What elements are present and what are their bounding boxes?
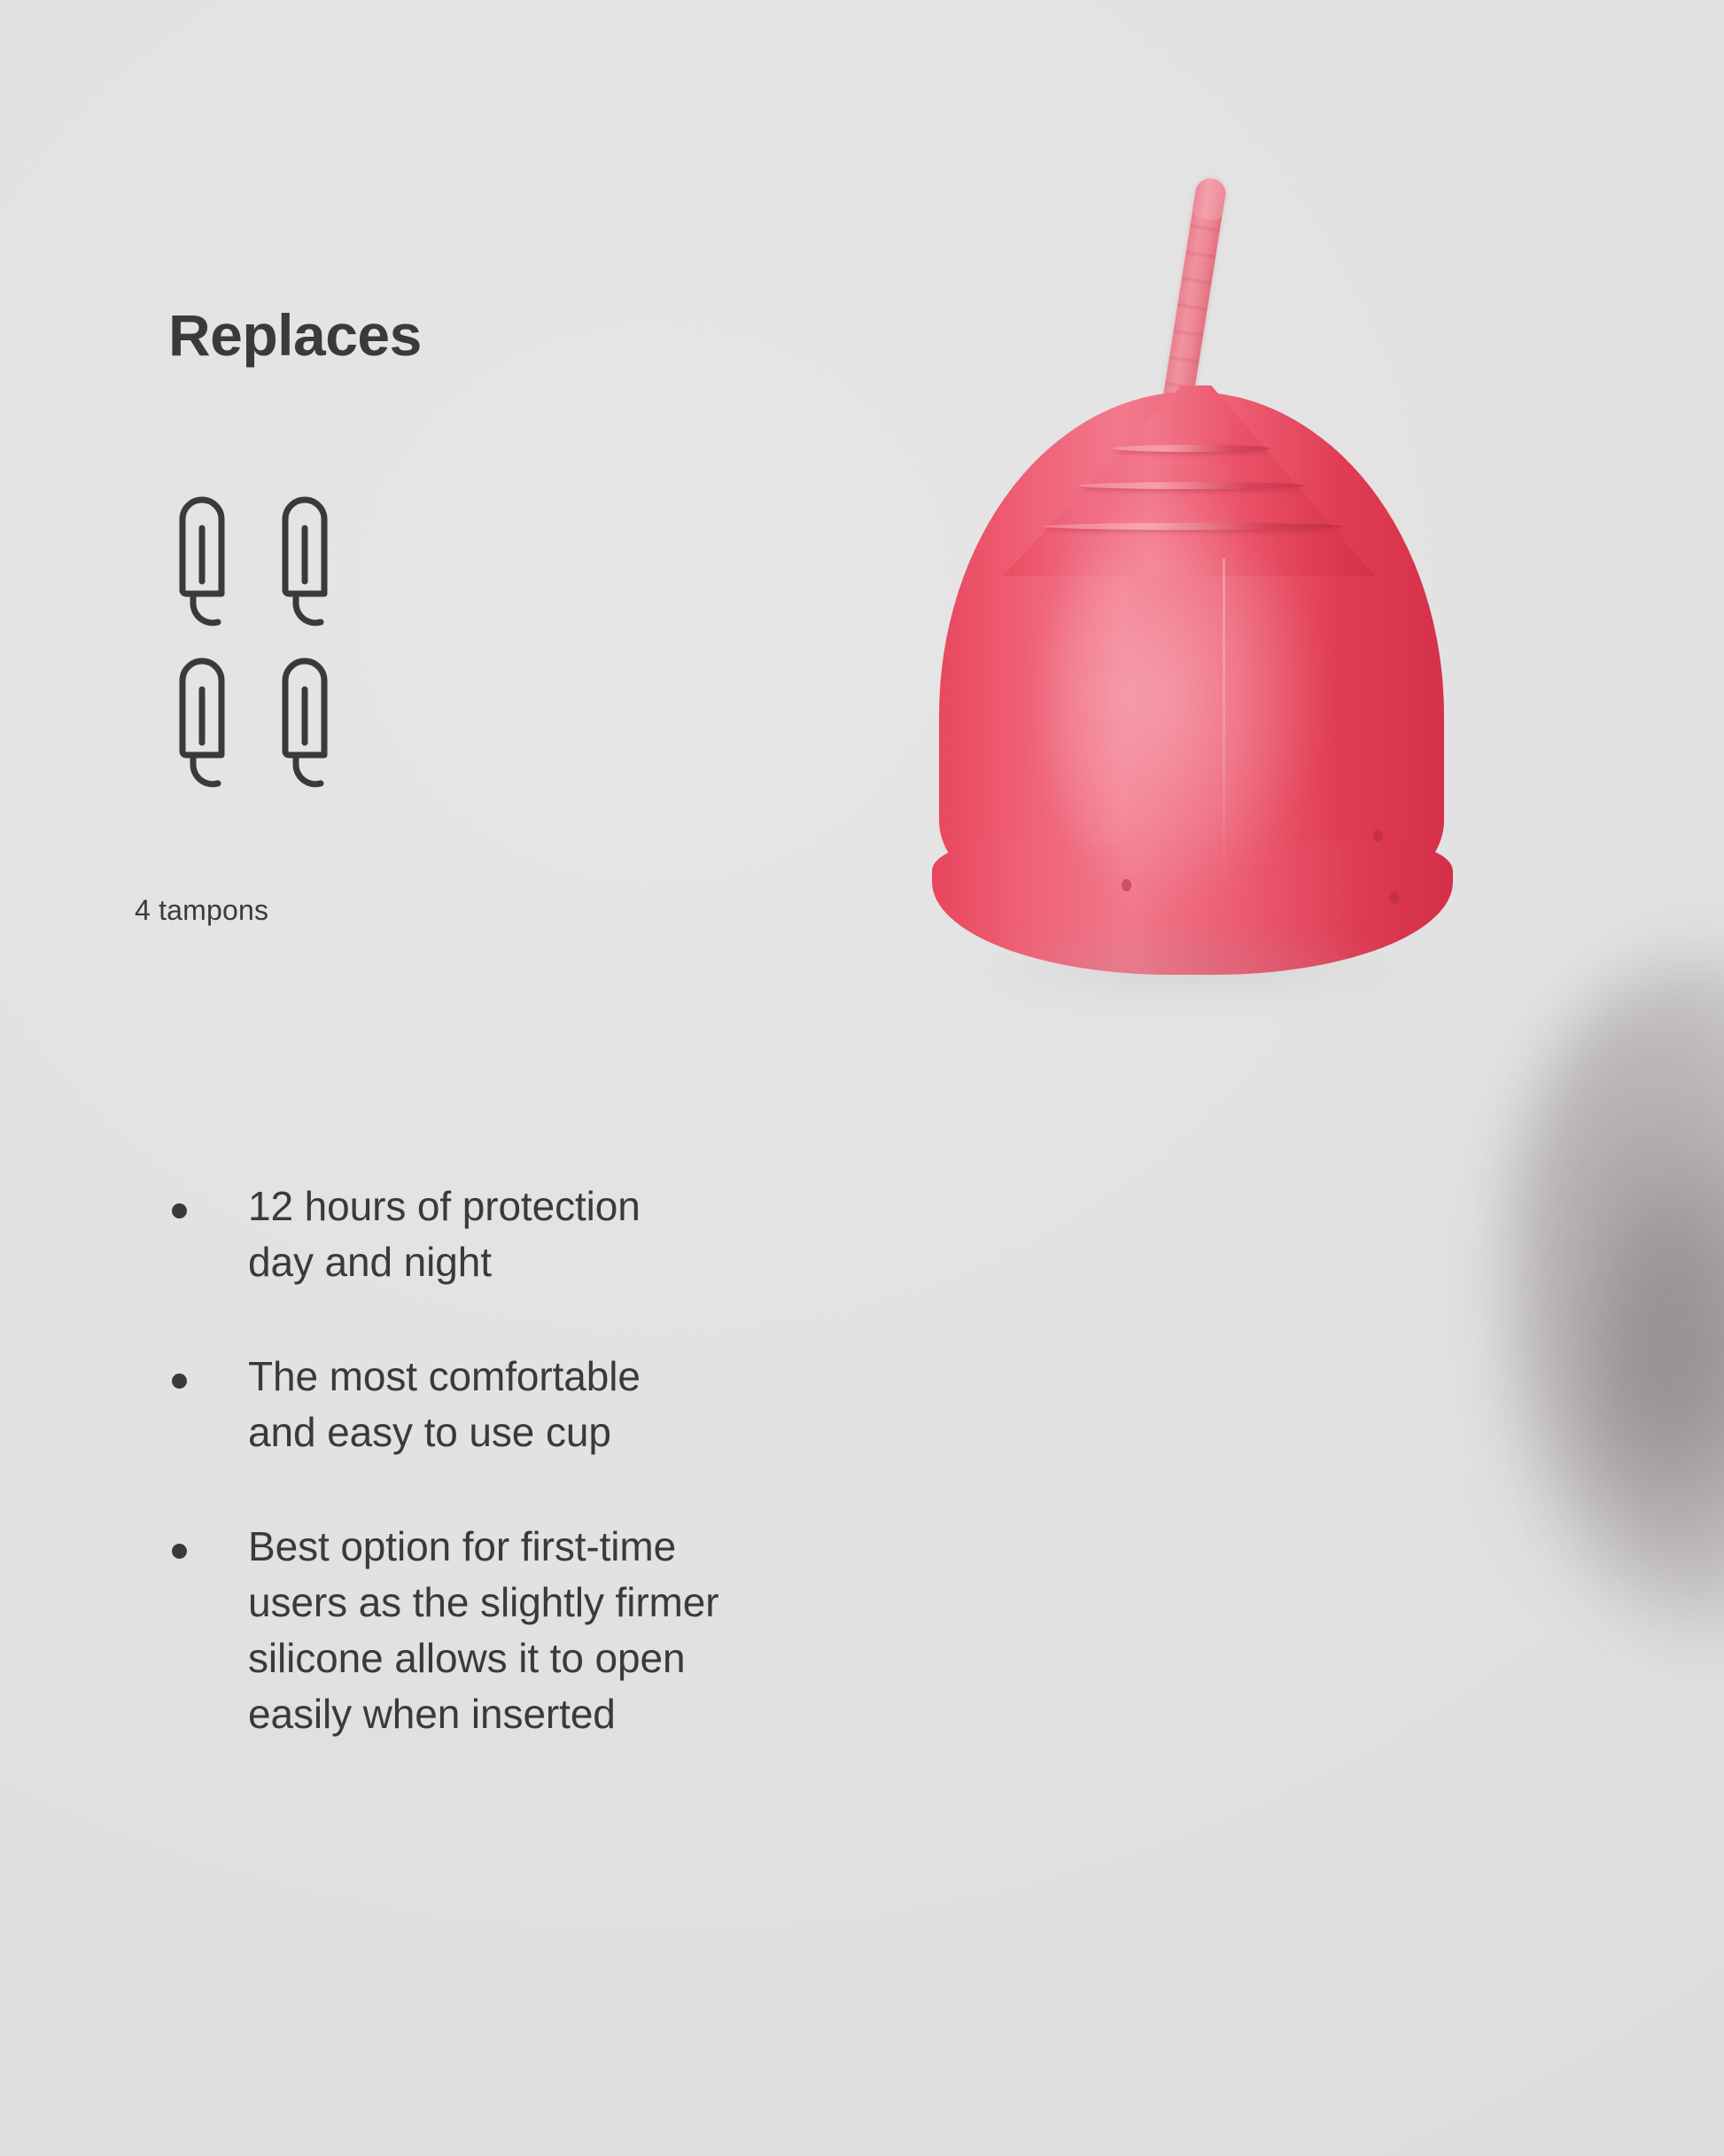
cup-stem-tip bbox=[1192, 176, 1228, 222]
cup-contact-shadow bbox=[983, 944, 1400, 997]
menstrual-cup-photo bbox=[930, 160, 1639, 1152]
tampon-icon-row bbox=[174, 650, 342, 792]
cup-grip-ring bbox=[1113, 445, 1270, 452]
cup-air-hole bbox=[1122, 879, 1131, 891]
list-item: The most comfortable and easy to use cup bbox=[168, 1349, 1072, 1460]
tampon-icon bbox=[276, 650, 340, 792]
list-item: 12 hours of protection day and night bbox=[168, 1179, 1072, 1290]
bullet-dot-icon bbox=[172, 1374, 187, 1389]
cup-air-hole bbox=[1390, 891, 1400, 904]
tampon-icon bbox=[174, 489, 237, 631]
benefit-text: Best option for first-time users as the … bbox=[248, 1523, 718, 1737]
benefit-text: The most comfortable and easy to use cup bbox=[248, 1353, 641, 1455]
cup-highlight bbox=[1045, 496, 1320, 913]
replaces-icon-grid bbox=[174, 489, 342, 792]
cup-air-hole bbox=[1373, 829, 1383, 842]
tampon-count-label: 4 tampons bbox=[135, 894, 268, 927]
list-item: Best option for first-time users as the … bbox=[168, 1519, 1072, 1742]
bullet-dot-icon bbox=[172, 1203, 187, 1218]
cup-grip-ring bbox=[1079, 482, 1306, 489]
bullet-dot-icon bbox=[172, 1544, 187, 1559]
page-title: Replaces bbox=[168, 306, 422, 364]
tampon-icon-row bbox=[174, 489, 342, 631]
tampon-icon bbox=[276, 489, 340, 631]
benefit-text: 12 hours of protection day and night bbox=[248, 1183, 641, 1285]
benefits-list: 12 hours of protection day and night The… bbox=[168, 1179, 1072, 1742]
tampon-icon bbox=[174, 650, 237, 792]
